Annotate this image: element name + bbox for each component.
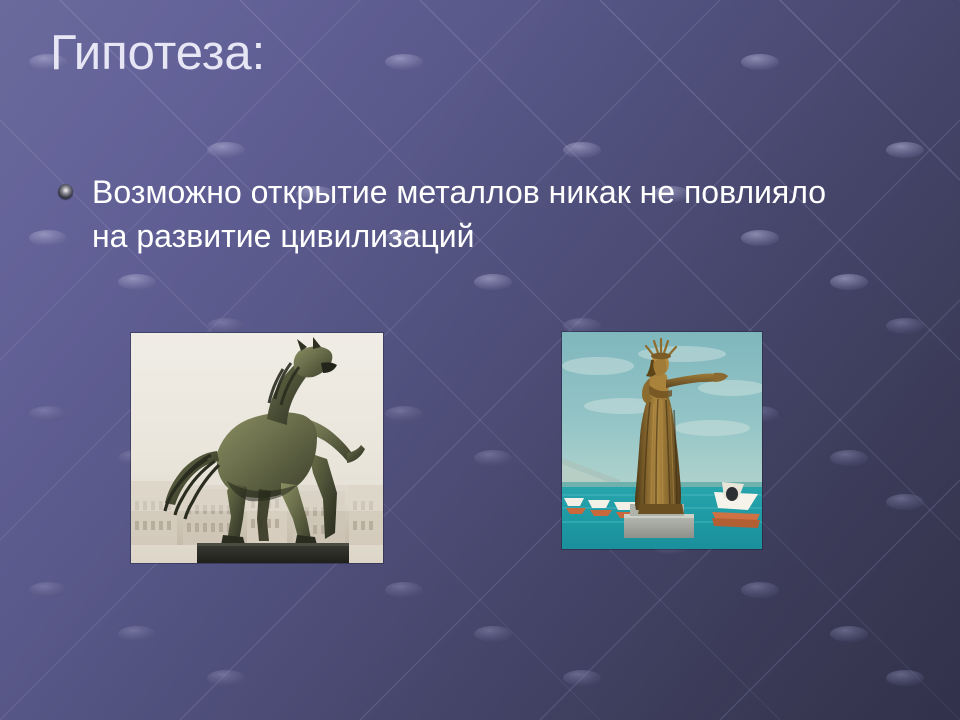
bullet-text: Возможно открытие металлов никак не повл… xyxy=(92,170,848,258)
bronze-horse-illustration xyxy=(131,333,383,563)
sphere-bullet-icon xyxy=(58,184,73,199)
page-title: Гипотеза: xyxy=(50,24,910,82)
colossus-illustration xyxy=(562,332,762,549)
title-placeholder: Гипотеза: xyxy=(50,24,910,96)
image-colossus-of-rhodes-statue xyxy=(562,332,762,549)
body-placeholder: Возможно открытие металлов никак не повл… xyxy=(58,170,848,258)
presentation-slide: Гипотеза: Возможно открытие металлов ник… xyxy=(0,0,960,720)
image-bronze-horse-statue xyxy=(131,333,383,563)
list-item: Возможно открытие металлов никак не повл… xyxy=(58,170,848,258)
